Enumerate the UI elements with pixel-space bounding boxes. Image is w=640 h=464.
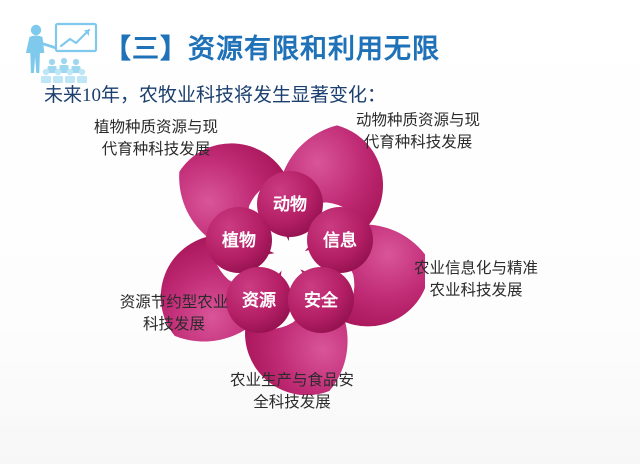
presentation-slide: 【三】资源有限和利用无限 未来10年，农牧业科技将发生显著变化：: [0, 0, 640, 464]
callout-animal: 动物种质资源与现 代育种科技发展: [338, 110, 498, 155]
callout-resource: 资源节约型农业 科技发展: [94, 292, 254, 337]
node-info: 信息: [307, 207, 373, 273]
slide-subtitle: 未来10年，农牧业科技将发生显著变化：: [44, 80, 386, 107]
node-info-label: 信息: [323, 230, 357, 250]
node-safety: 安全: [288, 267, 354, 333]
slide-footer: 更健康 更精彩: [0, 410, 640, 464]
callout-plant: 植物种质资源与现 代育种科技发展: [76, 117, 236, 162]
node-plant: 植物: [206, 207, 272, 273]
page-title: 【三】资源有限和利用无限: [104, 27, 440, 66]
node-plant-label: 植物: [222, 230, 256, 250]
callout-information: 农业信息化与精准 农业科技发展: [392, 258, 560, 303]
callout-safety: 农业生产与食品安 全科技发展: [206, 370, 378, 415]
node-animal-label: 动物: [273, 194, 307, 214]
presenter-with-chart-and-audience-icon: [16, 20, 100, 84]
node-safety-label: 安全: [304, 290, 339, 310]
